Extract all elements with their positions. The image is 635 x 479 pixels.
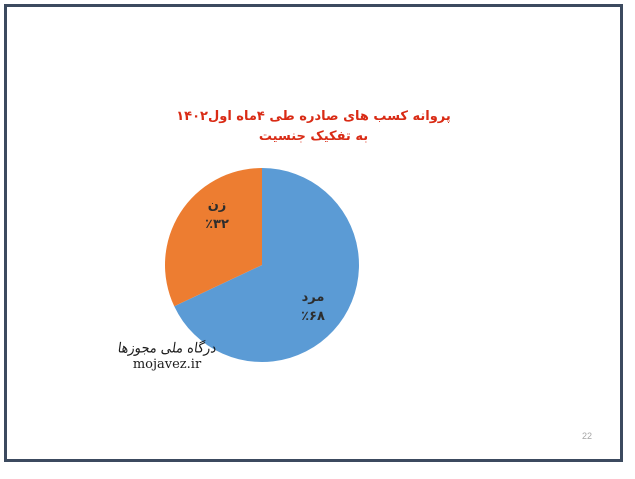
slide-canvas: پروانه کسب های صادره طی ۴ماه اول۱۴۰۲ به … [7,7,620,459]
slide-frame: پروانه کسب های صادره طی ۴ماه اول۱۴۰۲ به … [4,4,623,462]
watermark-logo: درگاه ملی مجوزها mojavez.ir [111,341,223,372]
watermark-domain-text: mojavez.ir [111,357,223,372]
pie-chart: مرد ٪۶۸ زن ٪۳۲ [160,163,364,367]
pie-chart-svg [160,163,364,367]
page-number: 22 [582,431,592,441]
watermark-script-text: درگاه ملی مجوزها [110,340,224,356]
page-title-line-1: پروانه کسب های صادره طی ۴ماه اول۱۴۰۲ [7,107,620,127]
page-title: پروانه کسب های صادره طی ۴ماه اول۱۴۰۲ به … [7,107,620,147]
page-title-line-2: به تفکیک جنسیت [7,127,620,147]
